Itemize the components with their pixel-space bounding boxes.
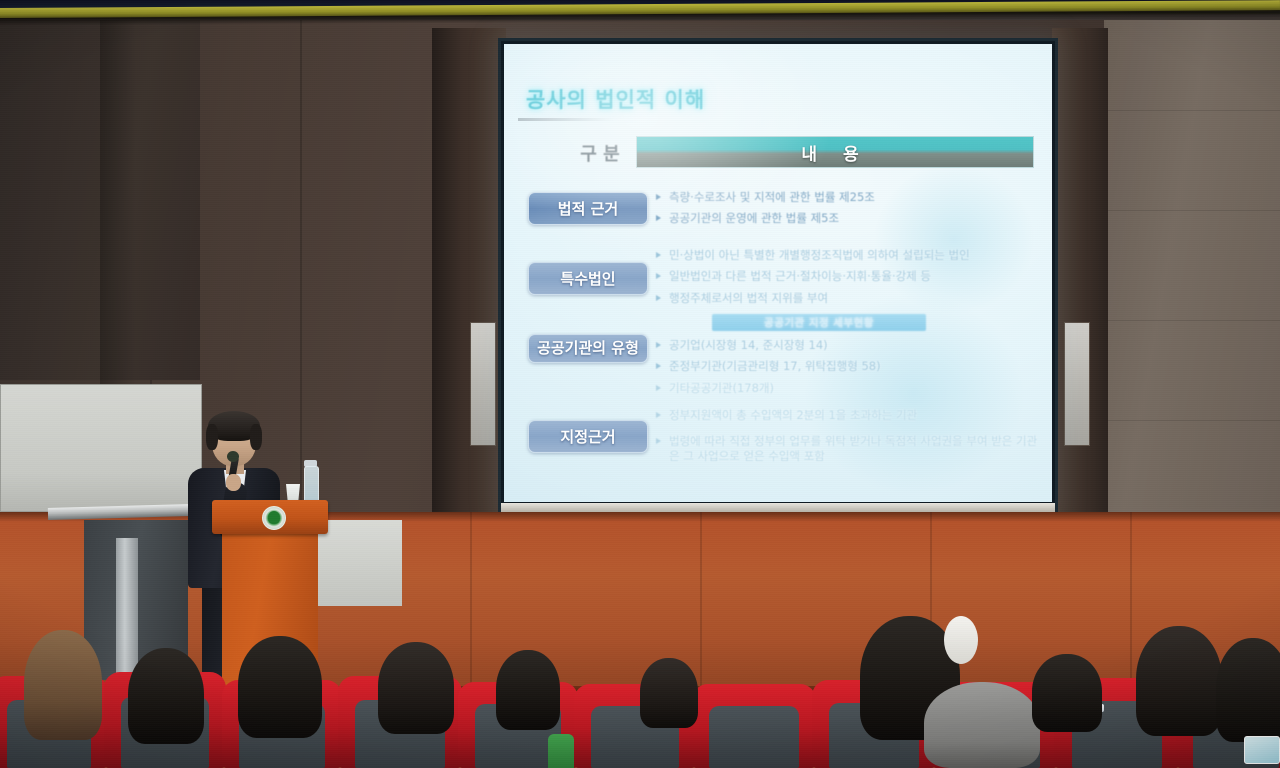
audience-head	[924, 682, 1040, 768]
wall-seam	[300, 20, 302, 525]
speaker-panel-right	[1064, 322, 1090, 446]
projection-screen: 공사의 법인적 이해 구 분 내 용 법적 근거 측량·수로조사 및 지적에 관…	[498, 38, 1058, 518]
microphone-head-icon	[227, 451, 239, 462]
audience-head	[128, 648, 204, 744]
whiteboard-panel	[0, 384, 202, 512]
right-grey-wall	[1104, 20, 1280, 525]
organization-emblem-icon	[262, 506, 286, 530]
audience-head	[24, 630, 102, 740]
phone-screen	[1244, 736, 1280, 764]
audience-head	[1136, 626, 1222, 736]
screen-frame-left	[432, 28, 506, 528]
audience-head	[1216, 638, 1280, 742]
speaker-panel-left	[470, 322, 496, 446]
auditorium-photo-scene: 공사의 법인적 이해 구 분 내 용 법적 근거 측량·수로조사 및 지적에 관…	[0, 0, 1280, 768]
hair-accessory	[944, 616, 978, 664]
audience-seating	[0, 622, 1280, 768]
screen-border	[498, 38, 1058, 518]
audience-head	[238, 636, 322, 738]
seat	[692, 684, 816, 768]
presenter-hair-side	[206, 424, 218, 450]
presenter-hand	[226, 474, 241, 491]
screen-frame-right	[1052, 28, 1108, 528]
audience-head	[378, 642, 454, 734]
audience-head	[1032, 654, 1102, 732]
audience-shirt	[548, 734, 574, 768]
audience-head	[640, 658, 698, 728]
audience-head	[496, 650, 560, 730]
presenter-hair-side	[250, 424, 262, 450]
